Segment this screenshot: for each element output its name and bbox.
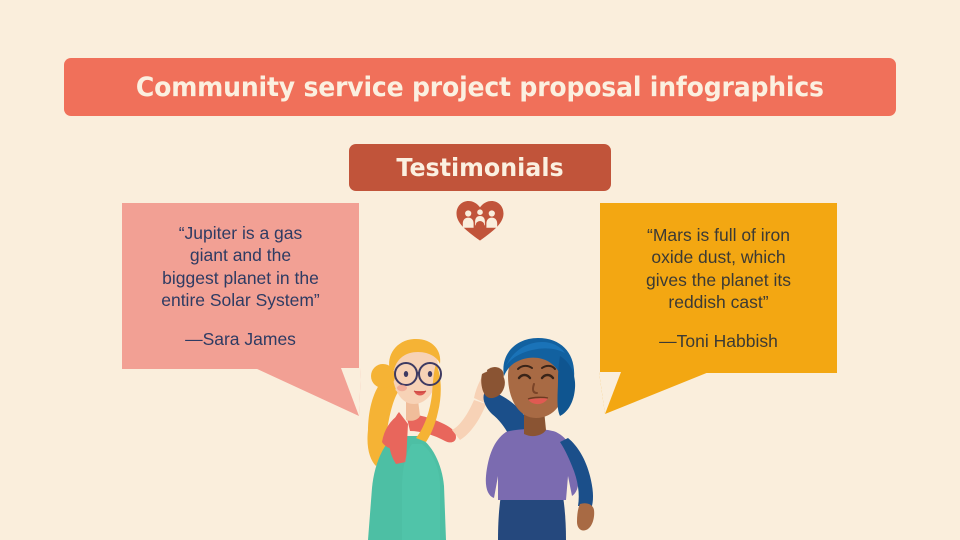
- two-people-high-five-illustration: [356, 336, 616, 540]
- testimonial-quote-left: “Jupiter is a gas giant and the biggest …: [161, 222, 320, 312]
- testimonial-tail-left: [255, 368, 361, 418]
- testimonial-card-right: “Mars is full of iron oxide dust, which …: [600, 203, 837, 373]
- testimonial-card-left: “Jupiter is a gas giant and the biggest …: [122, 203, 359, 369]
- section-label-text: Testimonials: [396, 153, 563, 182]
- page-title: Community service project proposal infog…: [136, 72, 824, 103]
- heart-community-icon: [455, 199, 505, 241]
- testimonial-author-right: —Toni Habbish: [659, 330, 778, 353]
- slide-canvas: Community service project proposal infog…: [0, 0, 960, 540]
- title-banner: Community service project proposal infog…: [64, 58, 896, 116]
- section-label-testimonials: Testimonials: [349, 144, 611, 191]
- testimonial-author-left: —Sara James: [185, 328, 296, 351]
- testimonial-quote-right: “Mars is full of iron oxide dust, which …: [646, 224, 791, 314]
